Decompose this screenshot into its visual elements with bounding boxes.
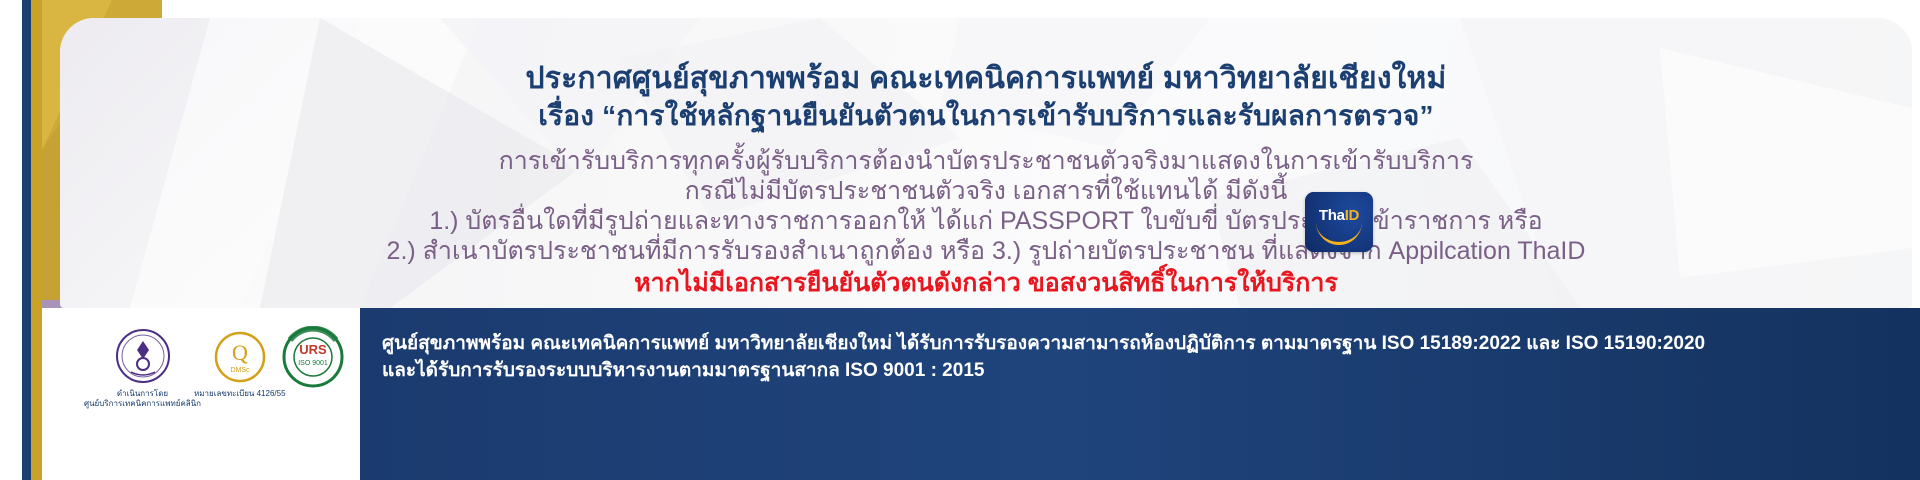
announcement-title-line-1: ประกาศศูนย์สุขภาพพร้อม คณะเทคนิคการแพทย์…: [60, 62, 1912, 96]
urs-iso9001-seal-icon: URS ISO 9001: [282, 326, 344, 388]
announcement-banner: ประกาศศูนย์สุขภาพพร้อม คณะเทคนิคการแพทย์…: [0, 0, 1920, 480]
logo-mt-cmu-seal: ดำเนินการโดย ศูนย์บริการเทคนิคการแพทย์คล…: [84, 328, 201, 409]
mt-cmu-seal-icon: [115, 328, 171, 384]
announcement-body-line-3: 1.) บัตรอื่นใดที่มีรูปถ่ายและทางราชการออ…: [60, 206, 1912, 236]
announcement-warning-text: หากไม่มีเอกสารยืนยันตัวตนดังกล่าว ขอสงวน…: [60, 268, 1912, 298]
announcement-body-line-2: กรณีไม่มีบัตรประชาชนตัวจริง เอกสารที่ใช้…: [60, 176, 1912, 206]
left-navy-stripe: [22, 0, 31, 300]
svg-text:URS: URS: [299, 342, 327, 357]
footer: ดำเนินการโดย ศูนย์บริการเทคนิคการแพทย์คล…: [0, 308, 1920, 480]
announcement-body-line-4: 2.) สำเนาบัตรประชาชนที่มีการรับรองสำเนาถ…: [60, 236, 1912, 266]
footer-line-2: และได้รับการรับรองระบบบริหารงานตามมาตรฐา…: [382, 357, 1900, 384]
footer-accreditation-bar: ศูนย์สุขภาพพร้อม คณะเทคนิคการแพทย์ มหาวิ…: [360, 308, 1920, 480]
logo-urs-iso9001-seal: URS ISO 9001: [282, 326, 344, 393]
left-gold-stripe: [31, 0, 42, 300]
footer-line-1: ศูนย์สุขภาพพร้อม คณะเทคนิคการแพทย์ มหาวิ…: [382, 330, 1900, 357]
footer-text-block: ศูนย์สุขภาพพร้อม คณะเทคนิคการแพทย์ มหาวิ…: [382, 330, 1900, 384]
thaid-arc-icon: [1316, 222, 1362, 245]
thaid-app-icon: ThaID: [1305, 192, 1373, 252]
announcement-title-line-2: เรื่อง “การใช้หลักฐานยืนยันตัวตนในการเข้…: [60, 100, 1912, 132]
logo-mt-cmu-caption-1: ดำเนินการโดย: [84, 389, 201, 399]
svg-text:DMSc: DMSc: [230, 367, 250, 374]
logo-dmsc-caption-1: หมายเลขทะเบียน 4126/55: [194, 389, 286, 399]
svg-text:ISO 9001: ISO 9001: [298, 360, 328, 367]
dmsc-quality-seal-icon: Q DMSc: [213, 330, 267, 384]
logo-mt-cmu-caption-2: ศูนย์บริการเทคนิคการแพทย์คลินิก: [84, 399, 201, 409]
certification-logos: ดำเนินการโดย ศูนย์บริการเทคนิคการแพทย์คล…: [42, 314, 360, 480]
svg-text:Q: Q: [232, 340, 248, 365]
announcement-body-line-1: การเข้ารับบริการทุกครั้งผู้รับบริการต้อง…: [60, 146, 1912, 176]
footer-logo-area: ดำเนินการโดย ศูนย์บริการเทคนิคการแพทย์คล…: [42, 308, 360, 480]
announcement-content: ประกาศศูนย์สุขภาพพร้อม คณะเทคนิคการแพทย์…: [60, 18, 1912, 308]
logo-dmsc-quality-seal: Q DMSc หมายเลขทะเบียน 4126/55: [194, 330, 286, 399]
